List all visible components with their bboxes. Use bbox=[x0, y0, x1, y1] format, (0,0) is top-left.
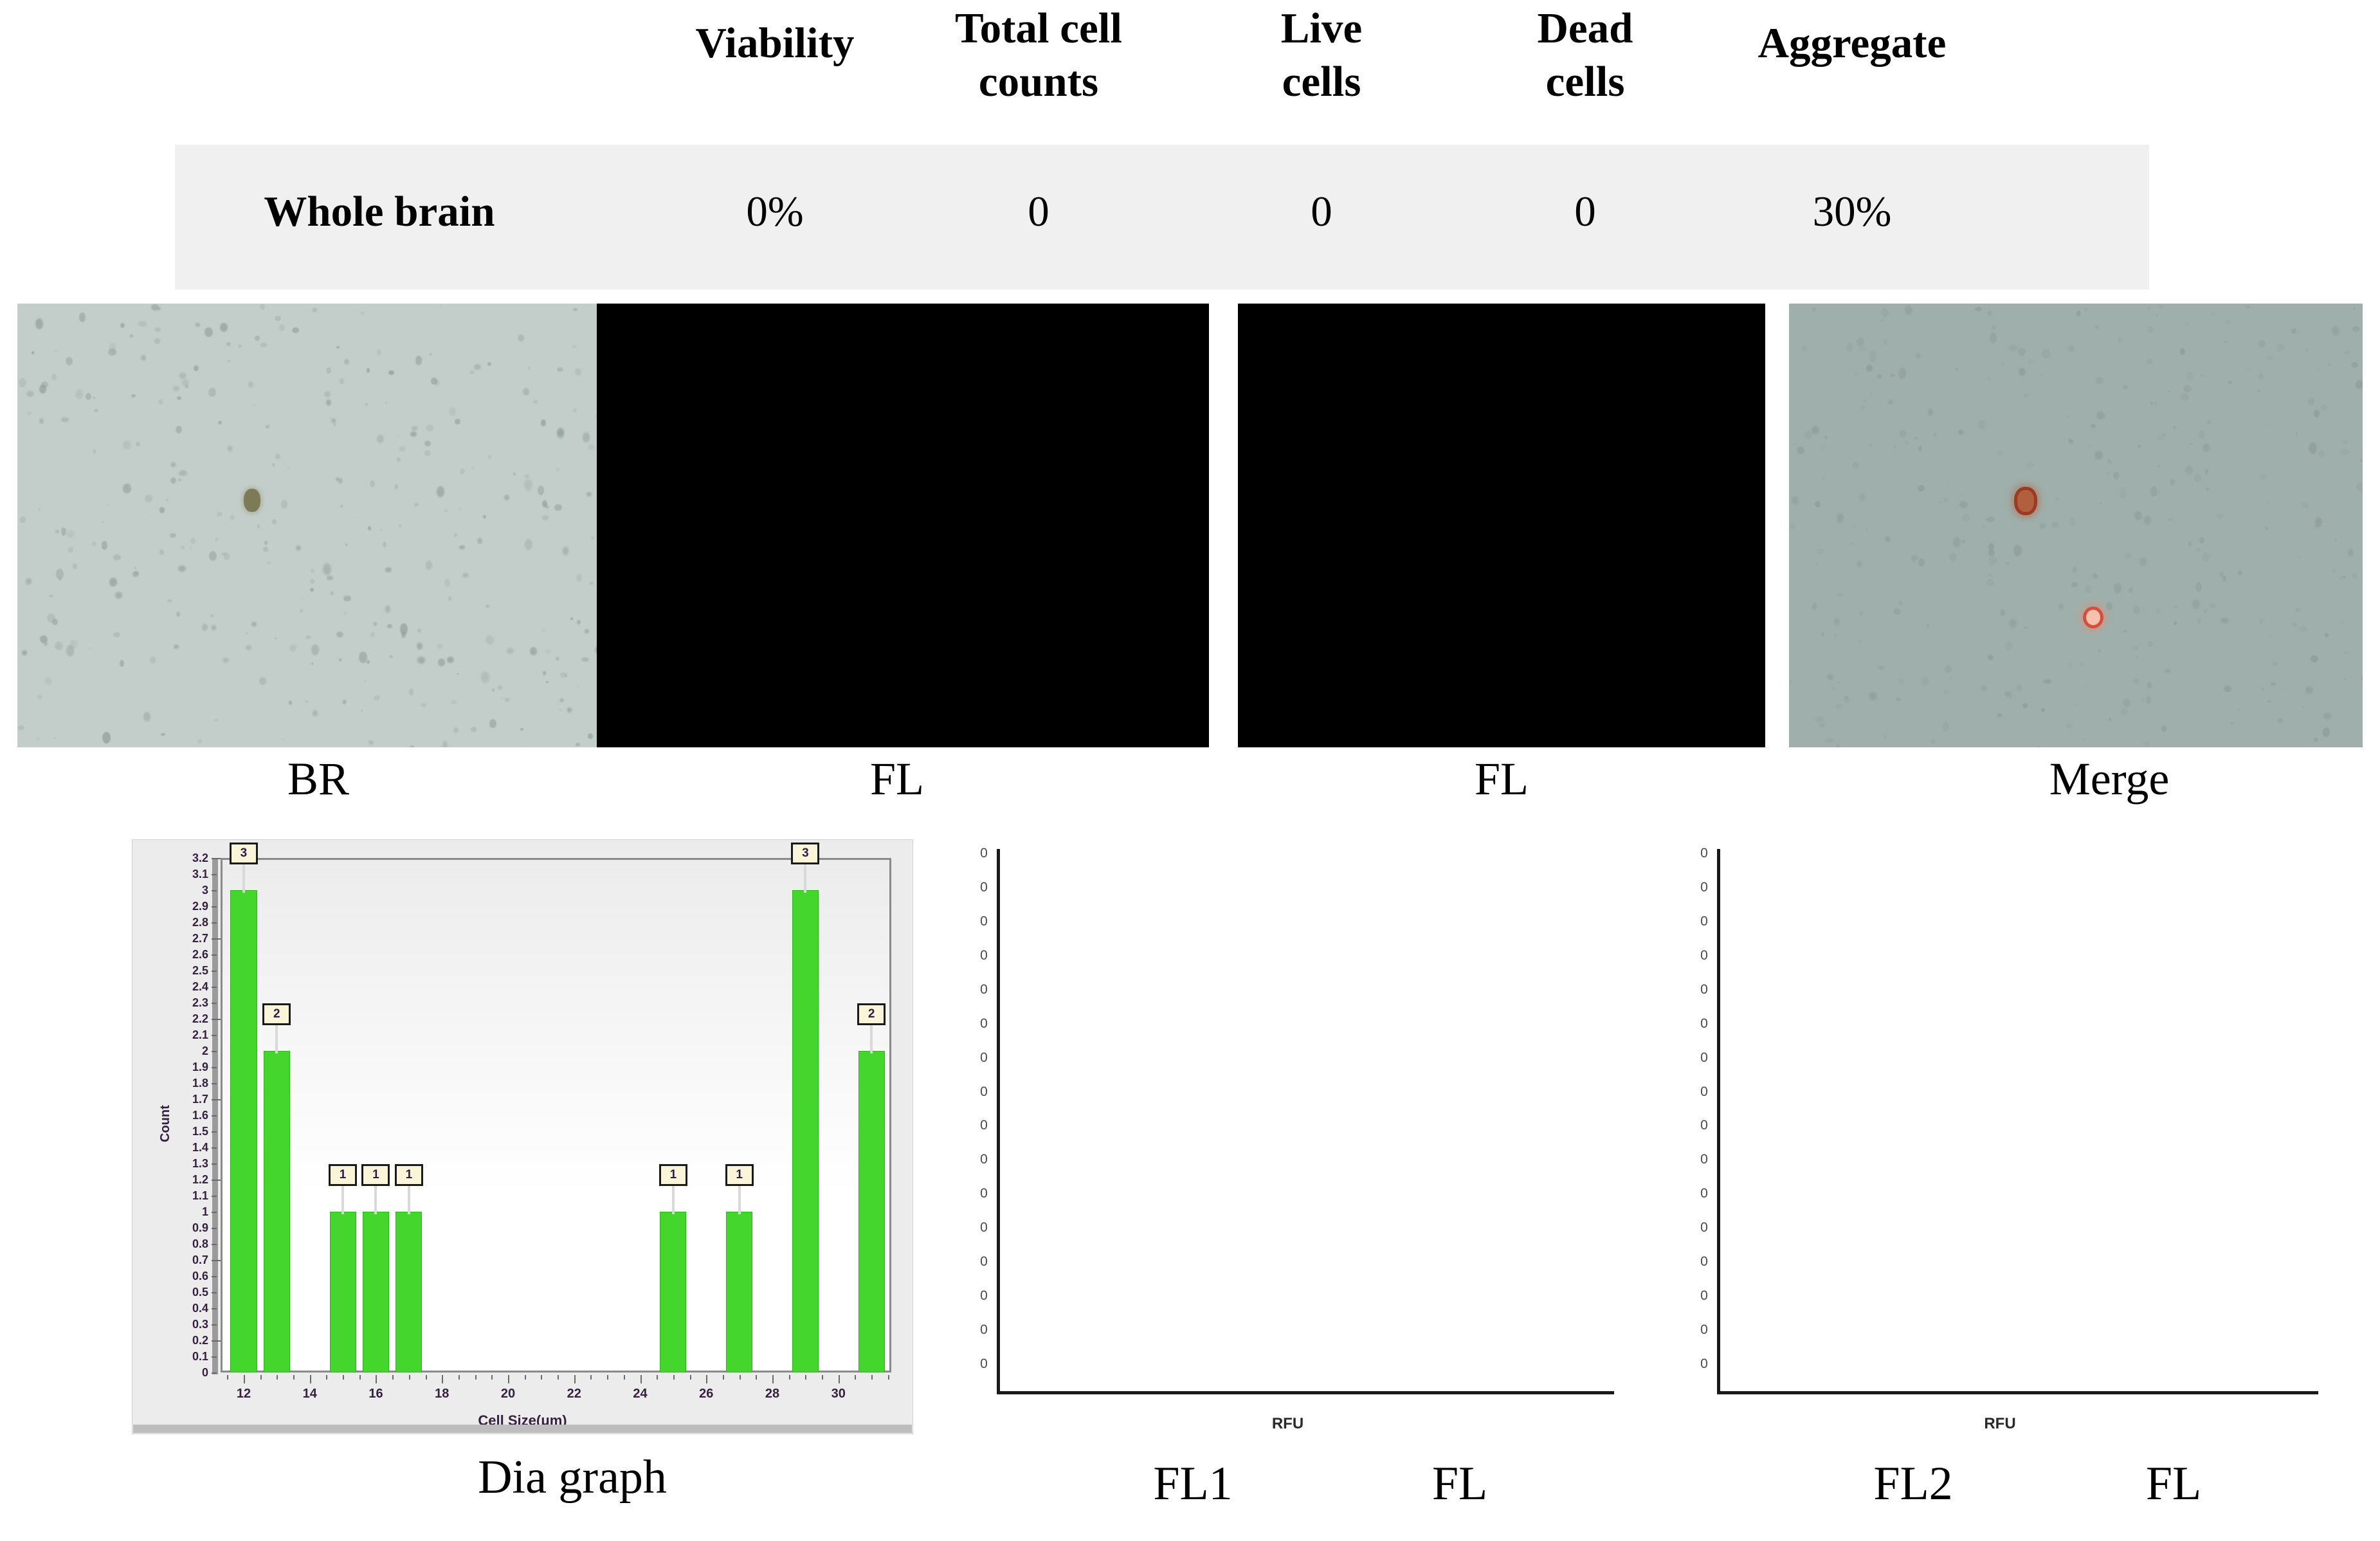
image-speck bbox=[455, 419, 460, 424]
fl1-plot-area bbox=[1000, 849, 1617, 1391]
fl2-chart[interactable]: RFU 0000000000000000 bbox=[1678, 849, 2321, 1428]
image-speck bbox=[2010, 697, 2012, 699]
image-speck bbox=[2327, 548, 2329, 550]
image-speck bbox=[360, 312, 365, 315]
image-speck bbox=[2009, 345, 2017, 351]
image-speck bbox=[1870, 393, 1872, 394]
dia-graph-y-tick-label: 0.6 bbox=[138, 1270, 208, 1282]
dia-graph-y-tick-label: 2.5 bbox=[138, 965, 208, 976]
image-speck bbox=[410, 745, 415, 747]
image-speck bbox=[2091, 424, 2095, 429]
image-speck bbox=[1975, 307, 1982, 311]
image-speck bbox=[2005, 562, 2009, 565]
fl2-plot-area bbox=[1720, 849, 2321, 1391]
image-speck bbox=[1893, 608, 1901, 615]
image-speck bbox=[1992, 325, 1996, 331]
image-speck bbox=[440, 305, 441, 307]
dia-graph-y-tick-label: 2.1 bbox=[138, 1029, 208, 1041]
image-speck bbox=[185, 385, 188, 388]
image-speck bbox=[545, 650, 550, 654]
fl1-chart[interactable]: RFU 0000000000000000 bbox=[958, 849, 1617, 1428]
image-speck bbox=[68, 547, 73, 552]
image-speck bbox=[248, 381, 253, 388]
image-speck bbox=[426, 561, 432, 570]
image-speck bbox=[212, 625, 217, 630]
image-speck bbox=[2343, 576, 2346, 578]
image-speck bbox=[2113, 472, 2119, 480]
fl-chart-y-tick-label: 0 bbox=[976, 1255, 992, 1268]
image-speck bbox=[159, 549, 164, 555]
image-speck bbox=[2206, 488, 2210, 491]
image-speck bbox=[370, 632, 375, 637]
image-speck bbox=[26, 578, 32, 585]
image-speck bbox=[2068, 345, 2073, 352]
cell-total-cell-counts: 0 bbox=[920, 187, 1158, 237]
image-speck bbox=[431, 378, 437, 385]
image-speck bbox=[1859, 612, 1863, 615]
image-speck bbox=[2217, 514, 2224, 518]
image-speck bbox=[2084, 307, 2087, 313]
fl1-x-axis bbox=[997, 1391, 1614, 1394]
image-speck bbox=[2258, 340, 2266, 347]
image-speck bbox=[2173, 426, 2176, 429]
column-header-viability: Viability bbox=[650, 18, 900, 68]
dia-graph-y-tick-label: 1.1 bbox=[138, 1190, 208, 1201]
image-speck bbox=[93, 397, 96, 399]
dia-graph-y-tick-mark bbox=[212, 1083, 217, 1084]
dia-graph-y-tick-label: 1.6 bbox=[138, 1109, 208, 1121]
image-speck bbox=[2203, 444, 2210, 452]
image-speck bbox=[2066, 724, 2073, 729]
dia-graph-y-tick-label: 2.3 bbox=[138, 997, 208, 1008]
image-speck bbox=[2129, 587, 2134, 592]
image-speck bbox=[1943, 689, 1949, 695]
dia-graph-y-tick-label: 0.4 bbox=[138, 1302, 208, 1314]
image-speck bbox=[2351, 362, 2358, 368]
dia-graph-bar-value-label: 3 bbox=[230, 843, 258, 864]
image-speck bbox=[1918, 558, 1925, 567]
dia-graph-y-tick-mark bbox=[212, 890, 217, 891]
image-speck bbox=[573, 308, 577, 311]
image-speck bbox=[339, 659, 341, 661]
dia-graph-bar[interactable] bbox=[330, 1212, 356, 1372]
image-speck bbox=[588, 733, 594, 739]
image-speck bbox=[513, 472, 516, 476]
dia-graph-bar-value-label: 2 bbox=[262, 1003, 291, 1025]
image-speck bbox=[2055, 497, 2058, 500]
image-speck bbox=[2075, 704, 2076, 706]
image-speck bbox=[93, 542, 96, 546]
dia-graph-y-tick-mark bbox=[212, 1163, 217, 1165]
dia-graph-chart[interactable]: Count Cell Size(μm) 3.23.132.92.82.72.62… bbox=[132, 839, 913, 1434]
caption-br: BR bbox=[193, 752, 444, 805]
image-speck bbox=[2016, 684, 2022, 691]
fl2-x-axis bbox=[1717, 1391, 2318, 1394]
image-speck bbox=[453, 727, 459, 733]
dia-graph-x-tick-mark bbox=[673, 1375, 675, 1380]
image-speck bbox=[430, 353, 431, 356]
image-speck bbox=[410, 432, 417, 436]
fl-chart-y-tick-label: 0 bbox=[1696, 949, 1712, 962]
summary-table-header: Viability Total cell counts Live cells D… bbox=[0, 0, 2380, 148]
image-speck bbox=[101, 521, 104, 524]
image-speck bbox=[2258, 389, 2260, 392]
dia-graph-y-tick-label: 1.4 bbox=[138, 1142, 208, 1153]
image-speck bbox=[151, 515, 152, 516]
image-speck bbox=[2042, 349, 2050, 359]
image-speck bbox=[208, 388, 216, 397]
image-speck bbox=[159, 399, 163, 405]
image-speck bbox=[343, 612, 347, 615]
image-speck bbox=[228, 446, 232, 451]
image-speck bbox=[2154, 401, 2158, 406]
image-speck bbox=[120, 323, 125, 329]
image-speck bbox=[2230, 722, 2233, 724]
image-speck bbox=[2133, 606, 2140, 614]
image-speck bbox=[1882, 320, 1884, 322]
image-speck bbox=[590, 582, 594, 585]
image-speck bbox=[198, 739, 203, 743]
image-speck bbox=[215, 538, 218, 541]
image-speck bbox=[54, 351, 57, 353]
image-speck bbox=[1801, 345, 1807, 352]
image-speck bbox=[1817, 548, 1824, 554]
image-speck bbox=[305, 635, 311, 640]
image-speck bbox=[367, 368, 370, 372]
dia-graph-bar-value-label: 3 bbox=[791, 843, 819, 864]
dia-graph-x-tick-mark bbox=[789, 1375, 790, 1380]
caption-fl-2: FL bbox=[1376, 752, 1627, 805]
image-speck bbox=[556, 468, 560, 471]
column-header-live-cells-line2: cells bbox=[1215, 57, 1428, 107]
fl-chart-y-tick-label: 0 bbox=[1696, 846, 1712, 860]
fl-chart-y-tick-label: 0 bbox=[976, 983, 992, 996]
image-speck bbox=[2317, 368, 2320, 370]
image-speck bbox=[2167, 390, 2170, 392]
image-speck bbox=[202, 624, 208, 631]
dia-graph-y-tick-mark bbox=[212, 1372, 217, 1374]
image-speck bbox=[424, 450, 431, 456]
image-speck bbox=[2183, 385, 2191, 392]
image-speck bbox=[343, 596, 351, 601]
image-speck bbox=[1961, 540, 1965, 543]
image-speck bbox=[1815, 716, 1823, 723]
image-speck bbox=[525, 539, 532, 550]
dia-graph-x-tick-label: 14 bbox=[291, 1387, 329, 1401]
image-speck bbox=[573, 409, 576, 412]
image-speck bbox=[138, 321, 147, 326]
image-speck bbox=[520, 728, 523, 731]
dia-graph-x-tick-mark bbox=[640, 1375, 642, 1383]
image-speck bbox=[2188, 542, 2192, 545]
image-speck bbox=[2118, 337, 2122, 343]
dia-graph-x-tick-mark bbox=[574, 1375, 576, 1383]
image-speck bbox=[1881, 308, 1889, 317]
image-speck bbox=[155, 327, 161, 332]
image-speck bbox=[2094, 451, 2103, 460]
image-speck bbox=[2222, 576, 2226, 581]
dia-graph-y-tick-label: 1.7 bbox=[138, 1093, 208, 1105]
image-speck bbox=[2162, 433, 2165, 436]
image-speck bbox=[385, 567, 392, 572]
image-speck bbox=[368, 526, 371, 531]
dia-graph-bar[interactable] bbox=[726, 1212, 752, 1372]
image-speck bbox=[2089, 445, 2091, 447]
image-speck bbox=[161, 733, 165, 736]
image-speck bbox=[300, 609, 302, 612]
dia-graph-y-tick-mark bbox=[212, 1244, 217, 1245]
image-speck bbox=[2238, 570, 2242, 576]
dia-graph-bar-value-label: 1 bbox=[395, 1164, 423, 1186]
image-speck bbox=[2314, 410, 2320, 418]
image-speck bbox=[2197, 549, 2200, 551]
fl-chart-y-tick-label: 0 bbox=[1696, 1255, 1712, 1268]
image-speck bbox=[2069, 517, 2075, 527]
image-speck bbox=[2038, 746, 2040, 747]
image-speck bbox=[498, 686, 501, 689]
image-speck bbox=[170, 533, 176, 537]
image-speck bbox=[55, 530, 59, 533]
image-speck bbox=[451, 700, 457, 704]
image-speck bbox=[2098, 650, 2101, 653]
image-speck bbox=[2058, 603, 2064, 610]
caption-merge: Merge bbox=[1984, 752, 2235, 805]
image-speck bbox=[1988, 311, 1992, 316]
dia-graph-bar-value-label: 2 bbox=[857, 1003, 886, 1025]
image-speck bbox=[1804, 377, 1806, 378]
image-speck bbox=[377, 435, 384, 443]
image-speck bbox=[215, 718, 217, 721]
image-speck bbox=[1831, 687, 1835, 689]
dia-graph-y-tick-mark bbox=[212, 987, 217, 988]
dia-graph-y-tick-label: 1.8 bbox=[138, 1077, 208, 1089]
image-speck bbox=[492, 688, 495, 691]
image-speck bbox=[2043, 679, 2051, 684]
dia-graph-x-tick-mark bbox=[541, 1375, 542, 1380]
image-speck bbox=[505, 698, 509, 702]
dia-graph-y-tick-label: 0.1 bbox=[138, 1351, 208, 1362]
dia-graph-bar[interactable] bbox=[858, 1051, 885, 1372]
dia-graph-y-tick-mark bbox=[212, 1228, 217, 1229]
image-speck bbox=[2260, 474, 2267, 479]
image-speck bbox=[2100, 502, 2102, 504]
image-speck bbox=[487, 362, 491, 366]
image-speck bbox=[86, 393, 91, 400]
dia-graph-label-stem bbox=[242, 862, 245, 893]
image-speck bbox=[289, 644, 296, 652]
image-speck bbox=[2123, 385, 2128, 389]
dia-graph-y-tick-mark bbox=[212, 1180, 221, 1181]
image-speck bbox=[388, 370, 394, 376]
image-speck bbox=[113, 632, 120, 637]
image-speck bbox=[2068, 438, 2071, 442]
image-speck bbox=[554, 504, 562, 511]
image-speck bbox=[1961, 493, 1962, 495]
image-speck bbox=[176, 426, 182, 433]
image-speck bbox=[273, 464, 274, 466]
dia-graph-x-tick-mark bbox=[475, 1375, 477, 1380]
image-speck bbox=[246, 645, 251, 650]
image-speck bbox=[2266, 501, 2269, 504]
dia-graph-x-tick-mark bbox=[442, 1375, 443, 1383]
image-speck bbox=[2205, 470, 2208, 474]
image-speck bbox=[136, 442, 140, 446]
caption-dia-graph: Dia graph bbox=[399, 1450, 746, 1504]
fl-chart-y-tick-label: 0 bbox=[1696, 880, 1712, 894]
dia-graph-label-stem bbox=[374, 1183, 377, 1214]
image-speck bbox=[2345, 351, 2350, 354]
image-speck bbox=[282, 738, 284, 740]
image-speck bbox=[1911, 555, 1918, 560]
image-speck bbox=[370, 480, 375, 487]
image-speck bbox=[178, 479, 181, 481]
dia-graph-x-tick-mark bbox=[227, 1375, 228, 1380]
image-speck bbox=[2340, 449, 2348, 455]
image-speck bbox=[170, 477, 176, 484]
dia-graph-bar[interactable] bbox=[660, 1212, 686, 1372]
image-speck bbox=[2143, 741, 2150, 747]
dia-graph-y-tick-label: 3.2 bbox=[138, 852, 208, 864]
dia-graph-y-tick-mark bbox=[212, 938, 221, 940]
image-speck bbox=[2293, 623, 2297, 626]
image-speck bbox=[26, 391, 33, 397]
image-speck bbox=[220, 323, 228, 332]
image-speck bbox=[45, 678, 52, 685]
dia-graph-x-tick-label: 12 bbox=[224, 1387, 263, 1401]
image-speck bbox=[1877, 374, 1882, 379]
image-speck bbox=[1945, 665, 1952, 673]
image-speck bbox=[585, 629, 589, 634]
image-speck bbox=[154, 338, 161, 344]
dia-graph-y-tick-mark bbox=[212, 1196, 217, 1197]
fl-chart-y-tick-label: 0 bbox=[976, 1153, 992, 1166]
image-speck bbox=[1854, 373, 1858, 376]
image-speck bbox=[418, 629, 421, 632]
dia-graph-bar[interactable] bbox=[264, 1051, 290, 1372]
image-speck bbox=[326, 399, 331, 406]
dia-graph-y-tick-label: 3.1 bbox=[138, 868, 208, 880]
image-speck bbox=[56, 569, 64, 579]
image-speck bbox=[259, 677, 266, 686]
fl-chart-y-tick-label: 0 bbox=[1696, 1221, 1712, 1234]
image-speck bbox=[167, 599, 172, 603]
image-speck bbox=[2019, 368, 2025, 376]
image-speck bbox=[2348, 549, 2354, 556]
image-speck bbox=[2123, 698, 2130, 707]
image-speck bbox=[1898, 679, 1905, 684]
image-speck bbox=[224, 552, 230, 560]
image-speck bbox=[231, 515, 234, 519]
image-speck bbox=[310, 579, 314, 584]
image-speck bbox=[323, 563, 331, 575]
image-speck bbox=[2161, 725, 2167, 732]
dia-graph-bar[interactable] bbox=[230, 890, 257, 1372]
caption-fl-1: FL bbox=[772, 752, 1022, 805]
image-speck bbox=[49, 594, 53, 597]
image-speck bbox=[1816, 563, 1818, 564]
dia-graph-y-tick-label: 2 bbox=[138, 1045, 208, 1057]
image-speck bbox=[115, 592, 123, 599]
image-speck bbox=[374, 695, 380, 700]
image-speck bbox=[66, 357, 73, 365]
dia-graph-x-tick-mark bbox=[260, 1375, 262, 1380]
dia-graph-x-tick-mark bbox=[392, 1375, 394, 1380]
image-speck bbox=[586, 492, 592, 497]
image-speck bbox=[2144, 516, 2150, 525]
image-speck bbox=[1930, 740, 1936, 743]
image-speck bbox=[2276, 343, 2285, 352]
image-speck bbox=[556, 657, 559, 661]
dia-graph-bar[interactable] bbox=[792, 890, 819, 1372]
image-speck bbox=[2342, 621, 2343, 623]
image-speck bbox=[412, 426, 417, 431]
fl-chart-y-tick-label: 0 bbox=[976, 1017, 992, 1030]
image-speck bbox=[442, 741, 448, 747]
image-speck bbox=[489, 719, 496, 727]
image-speck bbox=[546, 506, 549, 509]
fl-chart-y-tick-label: 0 bbox=[1696, 1289, 1712, 1302]
image-speck bbox=[398, 435, 399, 437]
image-speck bbox=[477, 538, 482, 545]
image-speck bbox=[279, 324, 285, 331]
dia-graph-plot-area bbox=[221, 858, 891, 1372]
image-speck bbox=[533, 400, 538, 403]
image-speck bbox=[2343, 439, 2347, 444]
dia-graph-label-stem bbox=[408, 1183, 410, 1214]
image-speck bbox=[289, 700, 292, 705]
aggregate-object-1 bbox=[2014, 487, 2037, 515]
image-speck bbox=[459, 508, 462, 511]
image-speck bbox=[2076, 311, 2080, 316]
image-speck bbox=[195, 323, 200, 327]
image-speck bbox=[1797, 446, 1804, 454]
image-speck bbox=[1822, 447, 1824, 449]
image-speck bbox=[54, 737, 55, 739]
image-speck bbox=[2028, 359, 2033, 363]
dia-graph-bar[interactable] bbox=[395, 1212, 422, 1372]
fl-chart-y-tick-label: 0 bbox=[976, 846, 992, 860]
image-speck bbox=[445, 509, 448, 512]
brightfield-cell-object bbox=[244, 489, 260, 512]
image-speck bbox=[120, 660, 125, 667]
image-speck bbox=[2224, 686, 2231, 692]
dia-graph-x-tick-mark bbox=[723, 1375, 724, 1380]
image-speck bbox=[131, 394, 136, 397]
dia-graph-x-tick-mark bbox=[590, 1375, 592, 1380]
image-speck bbox=[260, 304, 265, 309]
image-speck bbox=[2308, 397, 2314, 405]
dia-graph-bar[interactable] bbox=[363, 1212, 389, 1372]
image-speck bbox=[267, 561, 271, 564]
image-speck bbox=[576, 743, 580, 746]
dia-graph-y-tick-mark bbox=[212, 1292, 217, 1293]
image-speck bbox=[557, 430, 564, 439]
fl-chart-y-tick-label: 0 bbox=[1696, 1153, 1712, 1166]
image-speck bbox=[1900, 430, 1906, 437]
image-speck bbox=[177, 396, 182, 401]
image-speck bbox=[2228, 381, 2232, 384]
image-speck bbox=[37, 737, 39, 740]
image-speck bbox=[61, 527, 66, 535]
image-speck bbox=[1859, 346, 1866, 351]
image-speck bbox=[1888, 399, 1893, 405]
image-speck bbox=[400, 623, 408, 635]
image-speck bbox=[1939, 501, 1941, 503]
image-speck bbox=[2309, 442, 2316, 454]
image-speck bbox=[2321, 405, 2327, 412]
image-speck bbox=[387, 624, 392, 628]
image-speck bbox=[1793, 444, 1795, 446]
